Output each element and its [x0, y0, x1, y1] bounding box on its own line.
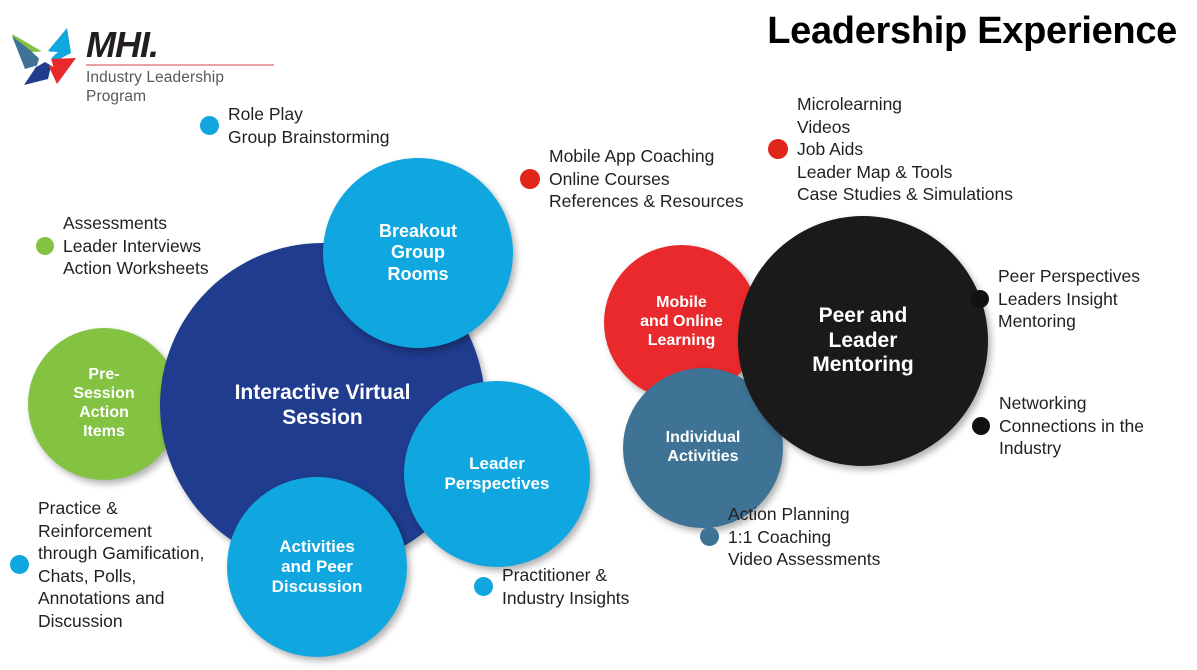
- diagram-canvas: MHI. Industry Leadership Program Leaders…: [0, 0, 1197, 670]
- callout-microlearning: MicrolearningVideosJob AidsLeader Map & …: [768, 93, 1013, 206]
- bubble-label: Interactive VirtualSession: [229, 381, 417, 431]
- page-title: Leadership Experience: [767, 10, 1177, 53]
- bullet-dot-icon: [520, 169, 540, 189]
- mhi-brand-name: MHI.: [86, 27, 286, 63]
- bullet-dot-icon: [200, 116, 219, 135]
- bullet-dot-icon: [474, 577, 493, 596]
- callout-assessments: AssessmentsLeader InterviewsAction Works…: [36, 212, 209, 280]
- callout-text: Action Planning1:1 CoachingVideo Assessm…: [728, 503, 880, 571]
- bubble-label: LeaderPerspectives: [439, 454, 556, 494]
- callout-text: Mobile App CoachingOnline CoursesReferen…: [549, 145, 744, 213]
- callout-text: Practice &Reinforcementthrough Gamificat…: [38, 497, 204, 632]
- callout-role-play: Role PlayGroup Brainstorming: [200, 103, 389, 148]
- callout-text: AssessmentsLeader InterviewsAction Works…: [63, 212, 209, 280]
- callout-practice-reinforcement: Practice &Reinforcementthrough Gamificat…: [10, 497, 204, 632]
- bubble-breakout-group-rooms[interactable]: BreakoutGroupRooms: [323, 158, 513, 348]
- bubble-label: BreakoutGroupRooms: [373, 221, 463, 285]
- bullet-dot-icon: [10, 555, 29, 574]
- bubble-label: Activitiesand PeerDiscussion: [266, 537, 369, 597]
- bullet-dot-icon: [700, 527, 719, 546]
- mhi-star-logo-icon: [8, 22, 82, 92]
- bubble-label: IndividualActivities: [660, 429, 747, 467]
- mhi-logo-text: MHI. Industry Leadership Program: [86, 27, 286, 106]
- bubble-leader-perspectives[interactable]: LeaderPerspectives: [404, 381, 590, 567]
- bubble-peer-and-leader-mentoring[interactable]: Peer andLeaderMentoring: [738, 216, 988, 466]
- callout-action-planning: Action Planning1:1 CoachingVideo Assessm…: [700, 503, 880, 571]
- callout-text: Practitioner &Industry Insights: [502, 564, 629, 609]
- bullet-dot-icon: [971, 290, 989, 308]
- bullet-dot-icon: [972, 417, 990, 435]
- mhi-logo: MHI. Industry Leadership Program: [8, 22, 288, 94]
- bullet-dot-icon: [768, 139, 788, 159]
- callout-mobile-app-coaching: Mobile App CoachingOnline CoursesReferen…: [520, 145, 744, 213]
- callout-practitioner-insights: Practitioner &Industry Insights: [474, 564, 629, 609]
- callout-networking: NetworkingConnections in theIndustry: [972, 392, 1144, 460]
- bubble-label: Peer andLeaderMentoring: [806, 304, 919, 378]
- bubble-activities-and-peer-discussion[interactable]: Activitiesand PeerDiscussion: [227, 477, 407, 657]
- bubble-label: Pre-SessionActionItems: [67, 366, 140, 442]
- callout-peer-perspectives: Peer PerspectivesLeaders InsightMentorin…: [971, 265, 1140, 333]
- callout-text: Peer PerspectivesLeaders InsightMentorin…: [998, 265, 1140, 333]
- callout-text: MicrolearningVideosJob AidsLeader Map & …: [797, 93, 1013, 206]
- mhi-logo-tagline: Industry Leadership Program: [86, 68, 286, 106]
- bullet-dot-icon: [36, 237, 54, 255]
- bubble-label: Mobileand OnlineLearning: [634, 294, 729, 351]
- bubble-pre-session-action-items[interactable]: Pre-SessionActionItems: [28, 328, 180, 480]
- callout-text: NetworkingConnections in theIndustry: [999, 392, 1144, 460]
- callout-text: Role PlayGroup Brainstorming: [228, 103, 389, 148]
